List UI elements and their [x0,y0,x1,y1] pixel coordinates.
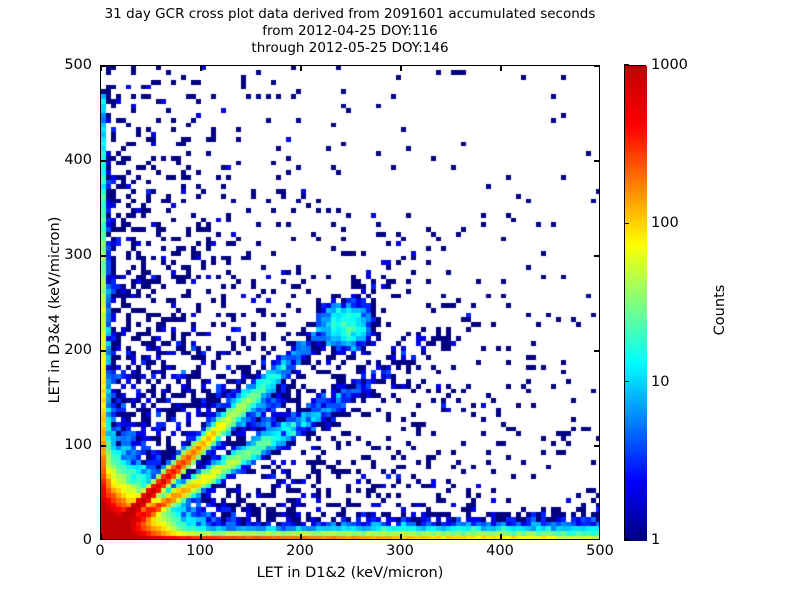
chart-title-line-1: 31 day GCR cross plot data derived from … [0,6,700,23]
x-tick-mark [400,534,401,539]
heatmap-canvas [101,66,600,540]
y-tick-mark [101,350,106,351]
x-tick-mark [400,66,401,71]
figure-canvas: 31 day GCR cross plot data derived from … [0,0,800,600]
chart-title-line-3: through 2012-05-25 DOY:146 [0,40,700,57]
colorbar-tick-mark [624,64,629,65]
colorbar-tick-mark [624,539,629,540]
y-tick-mark [101,445,106,446]
y-tick-mark [594,160,599,161]
colorbar [624,65,646,540]
x-tick-label: 0 [95,543,104,559]
x-tick-label: 200 [286,543,314,559]
y-tick-mark [594,65,599,66]
colorbar-tick-label: 1000 [651,57,688,73]
x-tick-mark [300,66,301,71]
x-tick-mark [200,534,201,539]
y-tick-label: 400 [40,152,92,168]
y-tick-label: 0 [40,532,92,548]
colorbar-tick-label: 10 [651,374,669,390]
x-tick-mark [500,534,501,539]
colorbar-tick-label: 1 [651,532,660,548]
x-tick-mark [100,66,101,71]
y-tick-mark [594,350,599,351]
x-tick-mark [300,534,301,539]
x-tick-mark [500,66,501,71]
plot-area [100,65,600,540]
x-tick-label: 100 [186,543,214,559]
x-tick-label: 400 [486,543,514,559]
chart-title-line-2: from 2012-04-25 DOY:116 [0,23,700,40]
y-tick-mark [594,445,599,446]
y-tick-label: 300 [40,247,92,263]
y-tick-mark [101,160,106,161]
y-tick-mark [594,255,599,256]
colorbar-gradient [625,66,647,541]
x-tick-label: 300 [386,543,414,559]
chart-title: 31 day GCR cross plot data derived from … [0,6,700,57]
y-tick-label: 500 [40,57,92,73]
y-tick-mark [101,65,106,66]
colorbar-title: Counts [712,230,728,390]
y-tick-mark [101,255,106,256]
colorbar-tick-mark [624,381,629,382]
y-tick-label: 100 [40,437,92,453]
colorbar-tick-mark [624,223,629,224]
y-axis-title: LET in D3&4 (keV/micron) [47,160,63,460]
x-tick-mark [200,66,201,71]
x-axis-title: LET in D1&2 (keV/micron) [100,565,600,581]
colorbar-tick-label: 100 [651,215,679,231]
x-tick-mark [100,534,101,539]
y-tick-label: 200 [40,342,92,358]
x-tick-label: 500 [586,543,614,559]
